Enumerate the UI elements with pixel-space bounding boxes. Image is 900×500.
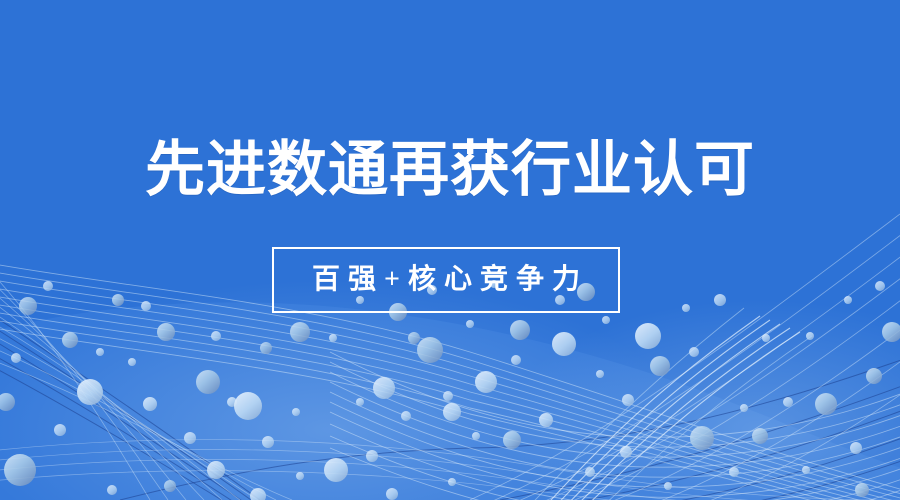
subtitle-text: 百强+核心竞争力 <box>304 265 588 295</box>
subtitle-badge: 百强+核心竞争力 <box>272 247 620 313</box>
banner-content: 先进数通再获行业认可 百强+核心竞争力 <box>0 0 900 500</box>
promo-banner: 先进数通再获行业认可 百强+核心竞争力 <box>0 0 900 500</box>
page-title: 先进数通再获行业认可 <box>0 134 900 206</box>
